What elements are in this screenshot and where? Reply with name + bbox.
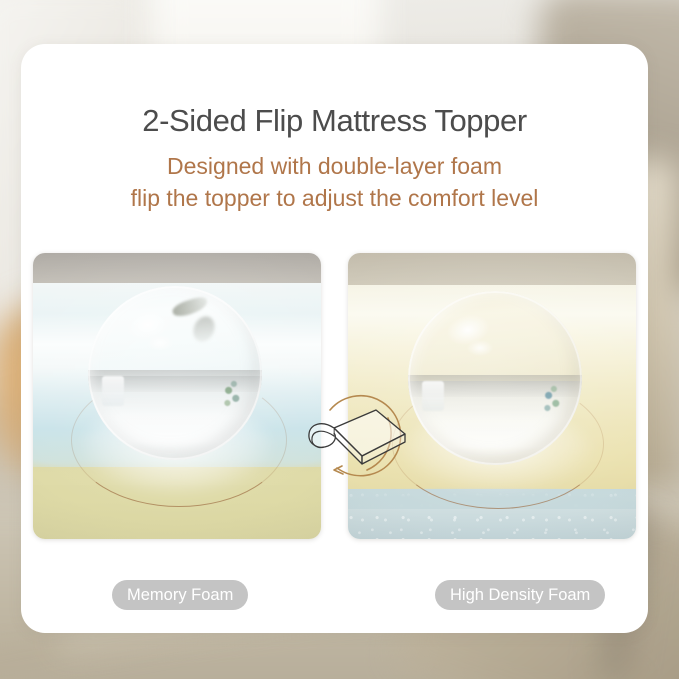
panel-background-band xyxy=(33,253,321,287)
panel-memory-foam xyxy=(33,253,321,539)
badge-memory-foam: Memory Foam xyxy=(112,580,248,610)
page-title: 2-Sided Flip Mattress Topper xyxy=(21,103,648,139)
foam-layer-boundary xyxy=(33,459,321,485)
subtitle: Designed with double-layer foam flip the… xyxy=(21,150,648,214)
content-card: 2-Sided Flip Mattress Topper Designed wi… xyxy=(21,44,648,633)
panel-background-band xyxy=(348,253,636,289)
badge-high-density-foam: High Density Foam xyxy=(435,580,605,610)
product-infographic: 2-Sided Flip Mattress Topper Designed wi… xyxy=(0,0,679,679)
flip-mattress-icon xyxy=(304,384,414,488)
subtitle-line-1: Designed with double-layer foam xyxy=(167,153,502,179)
glass-sphere xyxy=(408,291,582,465)
sphere-glass-rim xyxy=(88,286,262,460)
sphere-glass-rim xyxy=(408,291,582,465)
glass-sphere xyxy=(88,286,262,460)
subtitle-line-2: flip the topper to adjust the comfort le… xyxy=(21,182,648,214)
